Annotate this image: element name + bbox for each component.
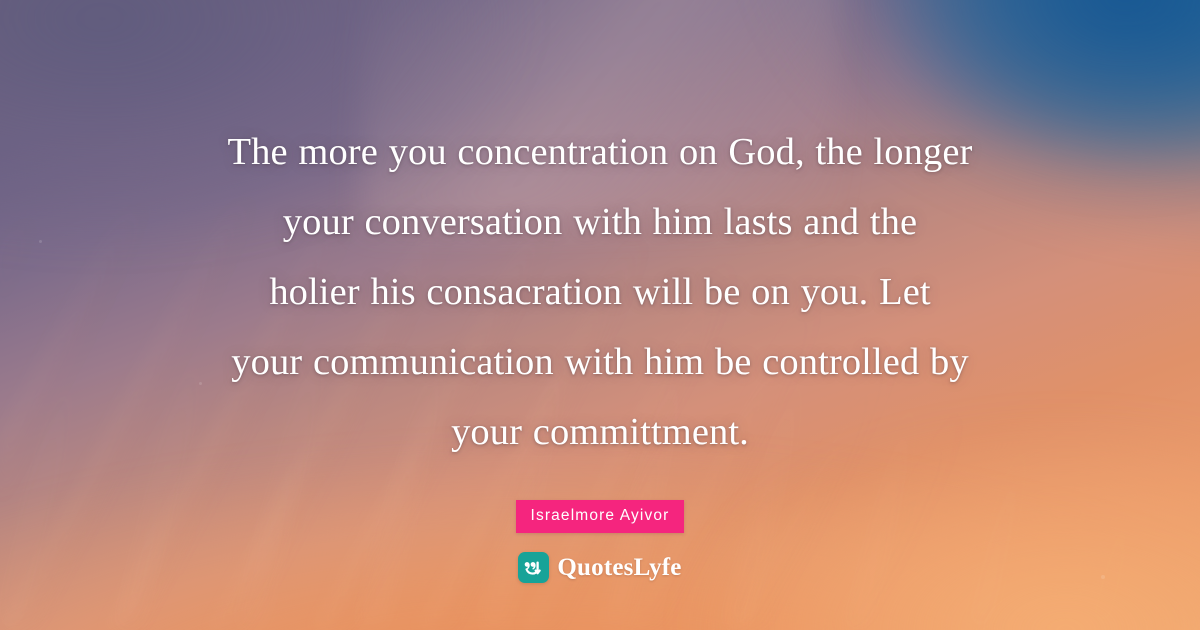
author-attribution: Israelmore Ayivor <box>100 500 1100 533</box>
author-name-badge[interactable]: Israelmore Ayivor <box>516 500 683 533</box>
quote-line: The more you concentration on God, the l… <box>228 131 973 173</box>
brand-name: QuotesLyfe <box>557 555 681 580</box>
card-content: The more you concentration on God, the l… <box>0 0 1200 630</box>
quote-line: your communication with him be controlle… <box>231 341 968 383</box>
quote-line: your committment. <box>451 411 749 453</box>
quote-card: The more you concentration on God, the l… <box>0 0 1200 630</box>
brand-logo[interactable]: QuotesLyfe <box>0 552 1200 583</box>
quote-mark-icon <box>518 552 549 583</box>
quote-line: your conversation with him lasts and the <box>283 201 917 243</box>
quote-text: The more you concentration on God, the l… <box>100 117 1100 467</box>
quote-block: The more you concentration on God, the l… <box>100 0 1100 533</box>
quote-line: holier his consacration will be on you. … <box>269 271 930 313</box>
